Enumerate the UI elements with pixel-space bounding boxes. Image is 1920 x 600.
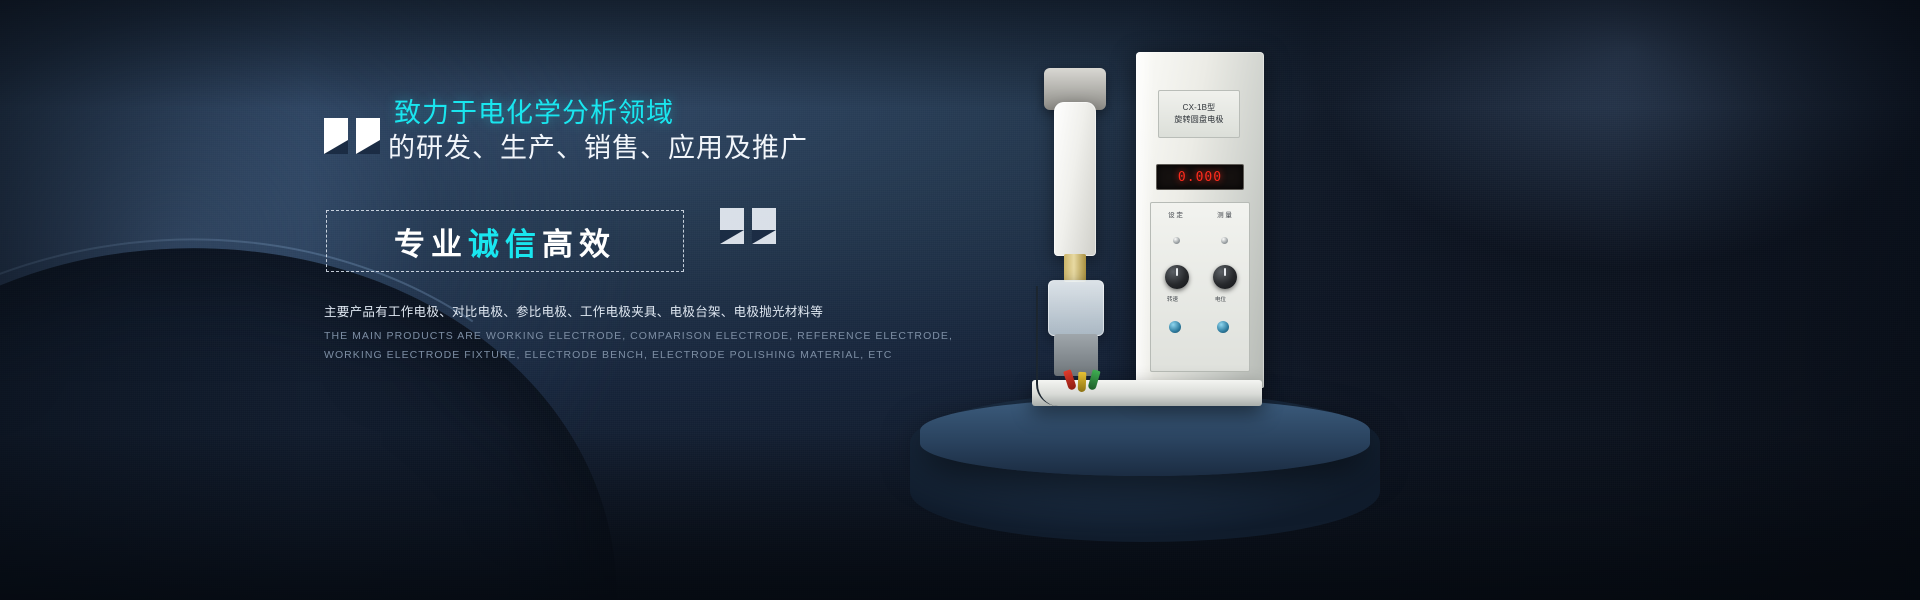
knob-label-left: 转速 — [1167, 295, 1178, 303]
led-display: 0.000 — [1156, 164, 1244, 190]
headline-line-1: 致力于电化学分析领域 — [318, 96, 878, 131]
slogan: 专业诚信高效 — [394, 219, 616, 264]
knob-potential[interactable] — [1213, 265, 1237, 289]
instrument-body: CX-1B型 旋转圆盘电极 0.000 设 定 测 量 转速 电位 — [1136, 52, 1264, 388]
panel-label-left: 设 定 — [1168, 209, 1183, 219]
banner-copy: 致力于电化学分析领域 的研发、生产、销售、应用及推广 专业诚信高效 主要产品有工… — [318, 96, 878, 165]
port-right[interactable] — [1217, 321, 1229, 333]
banner-root: 致力于电化学分析领域 的研发、生产、销售、应用及推广 专业诚信高效 主要产品有工… — [0, 0, 1920, 600]
rotor-shaft-housing — [1054, 102, 1096, 256]
cable — [1036, 286, 1058, 406]
panel-label-right: 测 量 — [1217, 209, 1232, 219]
slogan-word-2: 诚信 — [468, 227, 542, 262]
port-left[interactable] — [1169, 321, 1181, 333]
electrode-collet — [1064, 254, 1086, 282]
led-display-value: 0.000 — [1178, 170, 1222, 185]
slogan-word-1: 专业 — [394, 227, 468, 262]
model-name-line-2: 旋转圆盘电极 — [1174, 115, 1223, 125]
description-chinese: 主要产品有工作电极、对比电极、参比电极、工作电极夹具、电极台架、电极抛光材料等 — [324, 301, 884, 320]
lead-yellow — [1078, 372, 1087, 392]
knob-speed[interactable] — [1165, 265, 1189, 289]
quote-close-icon — [720, 208, 776, 244]
headline: 致力于电化学分析领域 的研发、生产、销售、应用及推广 — [318, 96, 878, 165]
product-instrument: CX-1B型 旋转圆盘电极 0.000 设 定 测 量 转速 电位 — [1020, 46, 1320, 466]
pedestal-top — [920, 398, 1370, 476]
headline-line-2: 的研发、生产、销售、应用及推广 — [318, 131, 878, 166]
control-panel: 设 定 测 量 转速 电位 — [1150, 202, 1250, 372]
cell-base — [1054, 334, 1098, 376]
description-english-line-2: WORKING ELECTRODE FIXTURE, ELECTRODE BEN… — [324, 346, 884, 365]
slogan-word-3: 高效 — [542, 227, 616, 262]
slogan-box: 专业诚信高效 — [326, 210, 684, 272]
screw-right — [1221, 237, 1228, 244]
description-english: THE MAIN PRODUCTS ARE WORKING ELECTRODE,… — [324, 327, 884, 366]
screw-left — [1173, 237, 1180, 244]
model-nameplate: CX-1B型 旋转圆盘电极 — [1158, 90, 1240, 138]
quote-open-icon — [324, 118, 380, 154]
model-name-line-1: CX-1B型 — [1183, 103, 1216, 113]
knob-label-right: 电位 — [1215, 295, 1226, 303]
control-panel-labels: 设 定 测 量 — [1151, 209, 1249, 219]
description-english-line-1: THE MAIN PRODUCTS ARE WORKING ELECTRODE,… — [324, 327, 884, 346]
